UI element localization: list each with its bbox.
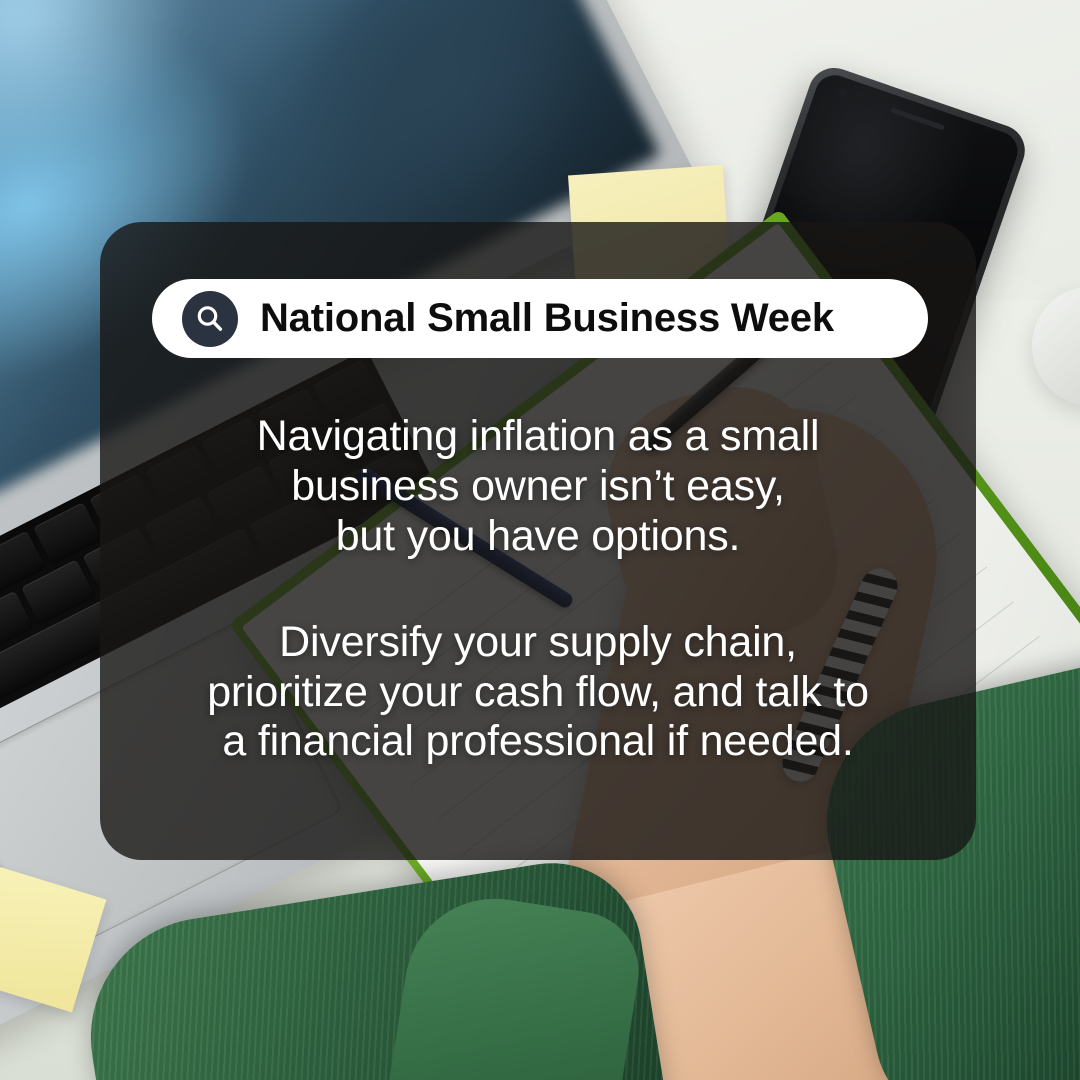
social-post-canvas: National Small Business Week Navigating … <box>0 0 1080 1080</box>
paragraph-2: Diversify your supply chain, prioritize … <box>120 618 956 768</box>
search-icon <box>182 291 238 347</box>
paragraph-spacer <box>120 562 956 618</box>
search-pill-badge[interactable]: National Small Business Week <box>152 279 928 358</box>
message-line: a financial professional if needed. <box>120 717 956 767</box>
message-line: business owner isn’t easy, <box>120 462 956 512</box>
message-line: Navigating inflation as a small <box>120 412 956 462</box>
paragraph-1: Navigating inflation as a small business… <box>120 412 956 562</box>
badge-title: National Small Business Week <box>260 296 834 341</box>
message-block: Navigating inflation as a small business… <box>120 412 956 767</box>
message-line: but you have options. <box>120 512 956 562</box>
message-line: prioritize your cash flow, and talk to <box>120 668 956 718</box>
message-line: Diversify your supply chain, <box>120 618 956 668</box>
